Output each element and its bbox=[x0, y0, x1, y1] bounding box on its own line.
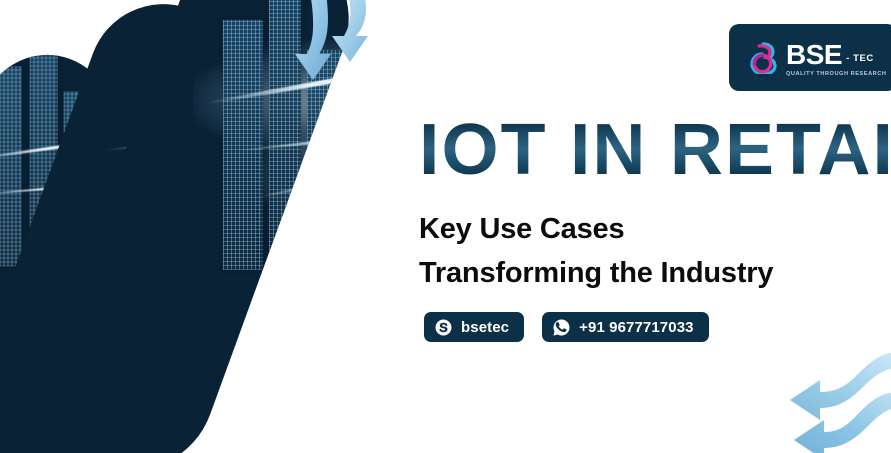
page-subtitle-line-1: Key Use Cases bbox=[419, 207, 773, 251]
contact-badge-whatsapp[interactable]: +91 9677717033 bbox=[542, 312, 708, 342]
logo-tagline: QUALITY THROUGH RESEARCH bbox=[786, 71, 886, 77]
skype-icon bbox=[435, 319, 452, 336]
bsetec-logo-mark-icon bbox=[749, 42, 779, 74]
banner-root: BSE - TEC QUALITY THROUGH RESEARCH IOT I… bbox=[0, 0, 891, 453]
curved-down-arrows-icon bbox=[286, 0, 406, 100]
curved-left-arrows-icon bbox=[748, 348, 891, 453]
contact-badge-skype[interactable]: bsetec bbox=[424, 312, 524, 342]
brand-logo[interactable]: BSE - TEC QUALITY THROUGH RESEARCH bbox=[729, 24, 891, 91]
logo-brand-text: BSE bbox=[786, 41, 842, 69]
contact-badge-whatsapp-label: +91 9677717033 bbox=[579, 319, 693, 336]
contact-badge-skype-label: bsetec bbox=[461, 319, 509, 336]
page-title: IOT IN RETAIL bbox=[419, 114, 891, 186]
page-subtitle: Key Use Cases Transforming the Industry bbox=[419, 207, 773, 295]
contact-badges: bsetec +91 9677717033 bbox=[424, 312, 709, 342]
page-subtitle-line-2: Transforming the Industry bbox=[419, 251, 773, 295]
logo-suffix-text: - TEC bbox=[846, 53, 874, 64]
whatsapp-icon bbox=[553, 319, 570, 336]
